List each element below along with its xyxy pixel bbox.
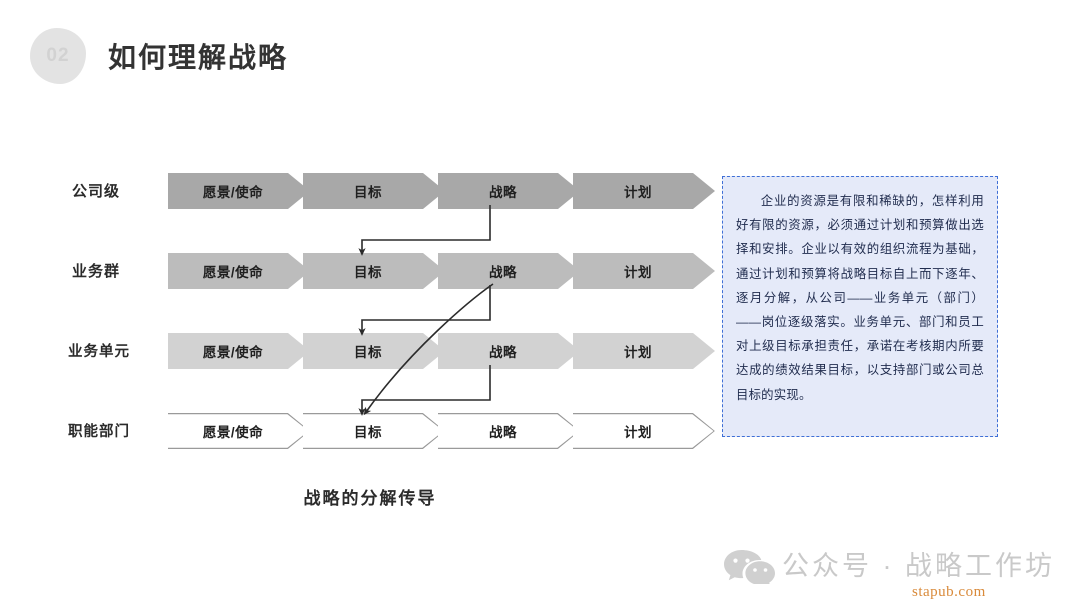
chevron-stage-label: 战略	[489, 421, 517, 441]
chevron-stage[interactable]: 愿景/使命	[168, 173, 310, 209]
chevron-stage[interactable]: 战略	[438, 253, 580, 289]
diagram-caption: 战略的分解传导	[0, 484, 740, 509]
section-number-badge: 02	[30, 28, 86, 84]
chevron-stage-label: 战略	[489, 261, 517, 281]
page-title: 如何理解战略	[108, 36, 288, 76]
row-label: 公司级	[72, 180, 164, 201]
chevron-stage[interactable]: 愿景/使命	[168, 413, 310, 449]
chevron-stage-label: 计划	[624, 341, 652, 361]
row-label: 业务单元	[68, 340, 168, 361]
chevron-stage-label: 战略	[489, 181, 517, 201]
connector-company-to-group	[362, 205, 490, 252]
chevron-stage-label: 计划	[624, 421, 652, 441]
chevron-row-2: 业务群愿景/使命目标战略计划	[0, 253, 720, 289]
explanation-note-box: 企业的资源是有限和稀缺的，怎样利用好有限的资源，必须通过计划和预算做出选择和安排…	[722, 176, 998, 437]
chevron-stage[interactable]: 战略	[438, 173, 580, 209]
chevron-row-4: 职能部门愿景/使命目标战略计划	[0, 413, 720, 449]
chevron-stage-label: 战略	[489, 341, 517, 361]
chevron-track: 愿景/使命目标战略计划	[168, 173, 708, 209]
chevron-stage-label: 目标	[354, 341, 382, 361]
chevron-stage[interactable]: 目标	[303, 173, 445, 209]
chevron-stage-label: 愿景/使命	[203, 261, 263, 281]
chevron-row-3: 业务单元愿景/使命目标战略计划	[0, 333, 720, 369]
wechat-icon	[722, 548, 776, 584]
chevron-track: 愿景/使命目标战略计划	[168, 253, 708, 289]
chevron-stage[interactable]: 计划	[573, 413, 715, 449]
explanation-note-text: 企业的资源是有限和稀缺的，怎样利用好有限的资源，必须通过计划和预算做出选择和安排…	[723, 177, 997, 417]
chevron-track: 愿景/使命目标战略计划	[168, 333, 708, 369]
chevron-stage-label: 愿景/使命	[203, 341, 263, 361]
chevron-track: 愿景/使命目标战略计划	[168, 413, 708, 449]
chevron-stage[interactable]: 愿景/使命	[168, 253, 310, 289]
chevron-stage-label: 目标	[354, 181, 382, 201]
slide-header: 02 如何理解战略	[0, 0, 1080, 105]
chevron-stage[interactable]: 战略	[438, 413, 580, 449]
connector-group-to-unit	[362, 285, 490, 332]
chevron-stage[interactable]: 战略	[438, 333, 580, 369]
chevron-row-1: 公司级愿景/使命目标战略计划	[0, 173, 720, 209]
section-number-label: 02	[46, 45, 69, 67]
footer-watermark: 公众号 · 战略工作坊 stapub.com	[714, 540, 1080, 608]
chevron-stage-label: 目标	[354, 421, 382, 441]
chevron-stage-label: 愿景/使命	[203, 421, 263, 441]
row-label: 业务群	[72, 260, 164, 281]
chevron-stage-label: 愿景/使命	[203, 181, 263, 201]
connector-group-to-dept-curve	[366, 284, 493, 412]
chevron-stage[interactable]: 计划	[573, 173, 715, 209]
chevron-stage[interactable]: 目标	[303, 253, 445, 289]
chevron-stage-label: 目标	[354, 261, 382, 281]
footer-brand-text: 公众号 · 战略工作坊	[782, 544, 1055, 583]
chevron-stage[interactable]: 计划	[573, 333, 715, 369]
row-label: 职能部门	[68, 420, 168, 441]
footer-url: stapub.com	[912, 584, 986, 601]
chevron-stage[interactable]: 计划	[573, 253, 715, 289]
chevron-stage[interactable]: 目标	[303, 333, 445, 369]
chevron-stage[interactable]: 愿景/使命	[168, 333, 310, 369]
connector-unit-to-dept	[362, 365, 490, 412]
chevron-stage-label: 计划	[624, 181, 652, 201]
chevron-stage[interactable]: 目标	[303, 413, 445, 449]
chevron-stage-label: 计划	[624, 261, 652, 281]
